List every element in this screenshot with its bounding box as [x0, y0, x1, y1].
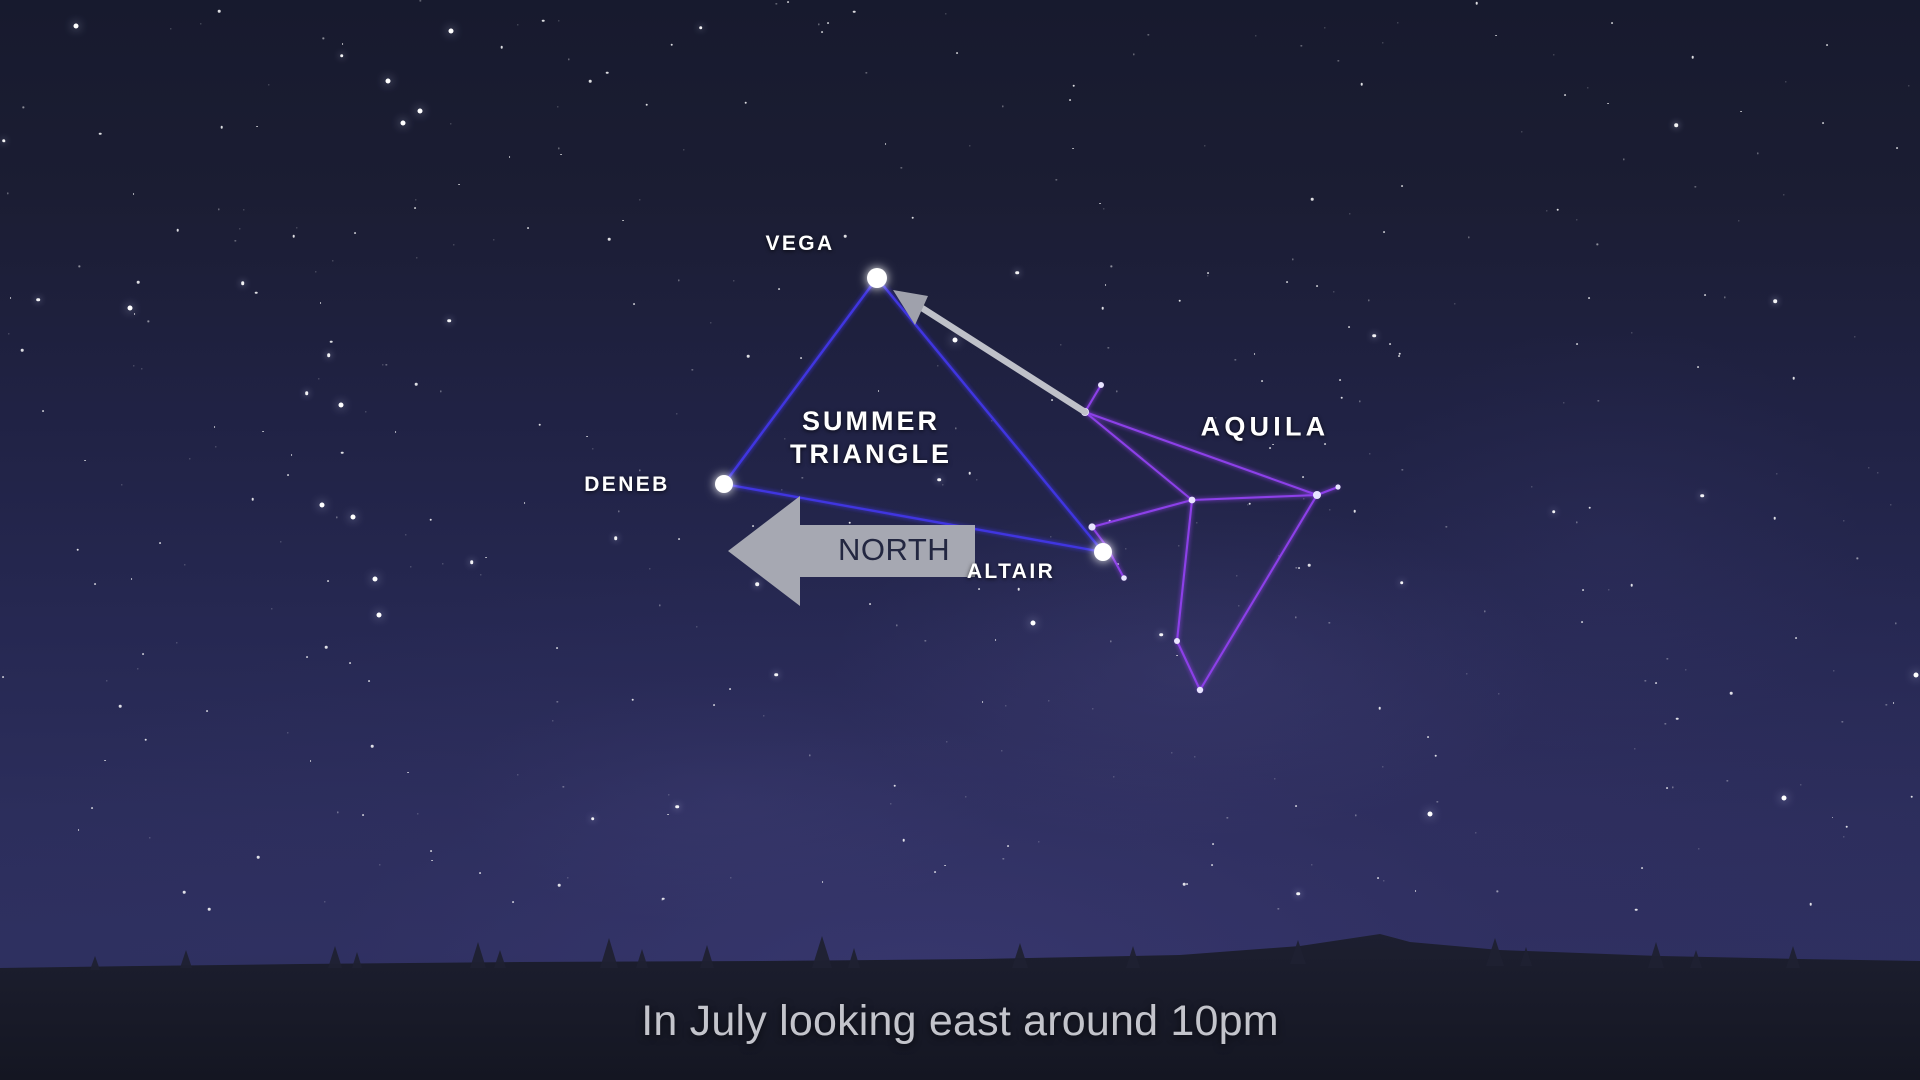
label-aquila: AQUILA: [1201, 412, 1330, 443]
label-altair: ALTAIR: [967, 560, 1055, 584]
label-summer-triangle: SUMMER TRIANGLE: [790, 405, 952, 471]
star-chart-stage: NORTH VEGA DENEB ALTAIR AQUILA SUMMER TR…: [0, 0, 1920, 1080]
label-summer-triangle-line2: TRIANGLE: [790, 438, 952, 471]
label-vega: VEGA: [765, 232, 834, 256]
caption-text: In July looking east around 10pm: [0, 997, 1920, 1046]
pointer-arrow-to-vega: [893, 290, 1085, 412]
north-label: NORTH: [838, 532, 950, 568]
star-vega: [867, 268, 887, 288]
star-deneb: [715, 475, 733, 493]
label-summer-triangle-line1: SUMMER: [790, 405, 952, 438]
label-deneb: DENEB: [584, 473, 670, 497]
constellation-overlay: [0, 0, 1920, 1080]
star-altair: [1094, 543, 1112, 561]
